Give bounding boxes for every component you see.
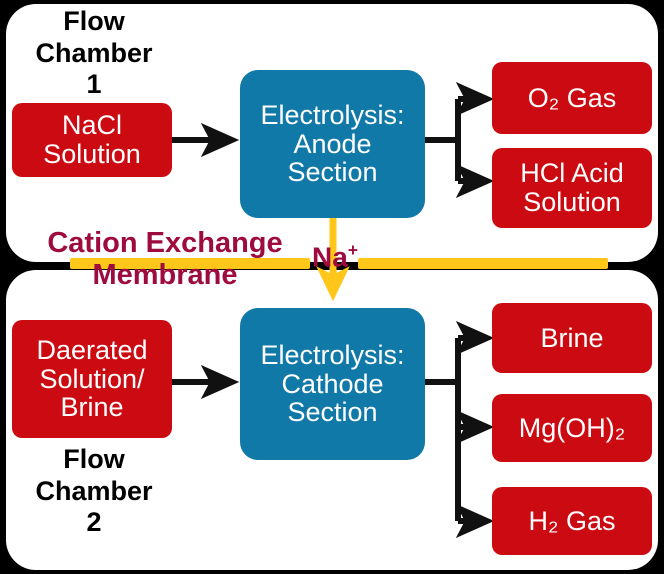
output-hcl-acid-label: HCl Acid Solution — [520, 159, 624, 216]
output-brine-label: Brine — [540, 324, 603, 353]
output-mgoh2-box[interactable]: Mg(OH)₂ — [492, 394, 652, 462]
sodium-ion-symbol: Na — [312, 241, 348, 272]
electrolysis-anode-label: Electrolysis: Anode Section — [260, 101, 404, 187]
output-brine-box[interactable]: Brine — [492, 303, 652, 373]
output-h2-gas-label: H₂ Gas — [529, 507, 616, 536]
diagram-canvas: Flow Chamber 1 NaCl Solution Electrolysi… — [0, 0, 664, 574]
flow-chamber-1-label: Flow Chamber 1 — [14, 6, 174, 101]
daerated-solution-brine-box[interactable]: Daerated Solution/ Brine — [12, 320, 172, 438]
output-hcl-acid-box[interactable]: HCl Acid Solution — [492, 148, 652, 228]
electrolysis-cathode-label: Electrolysis: Cathode Section — [260, 341, 404, 427]
output-o2-gas-box[interactable]: O₂ Gas — [492, 62, 652, 134]
sodium-ion-label: Na+ — [303, 240, 367, 273]
daerated-solution-brine-label: Daerated Solution/ Brine — [36, 336, 147, 422]
output-mgoh2-label: Mg(OH)₂ — [519, 414, 625, 443]
nacl-solution-box[interactable]: NaCl Solution — [12, 103, 172, 177]
membrane-line-right — [358, 258, 608, 269]
electrolysis-anode-box[interactable]: Electrolysis: Anode Section — [240, 70, 425, 218]
nacl-solution-label: NaCl Solution — [43, 111, 141, 168]
flow-chamber-2-label: Flow Chamber 2 — [14, 444, 174, 539]
cation-exchange-membrane-label: Cation Exchange Membrane — [20, 227, 310, 292]
sodium-ion-charge: + — [348, 240, 358, 260]
output-h2-gas-box[interactable]: H₂ Gas — [492, 487, 652, 555]
output-o2-gas-label: O₂ Gas — [528, 84, 617, 113]
electrolysis-cathode-box[interactable]: Electrolysis: Cathode Section — [240, 308, 425, 460]
